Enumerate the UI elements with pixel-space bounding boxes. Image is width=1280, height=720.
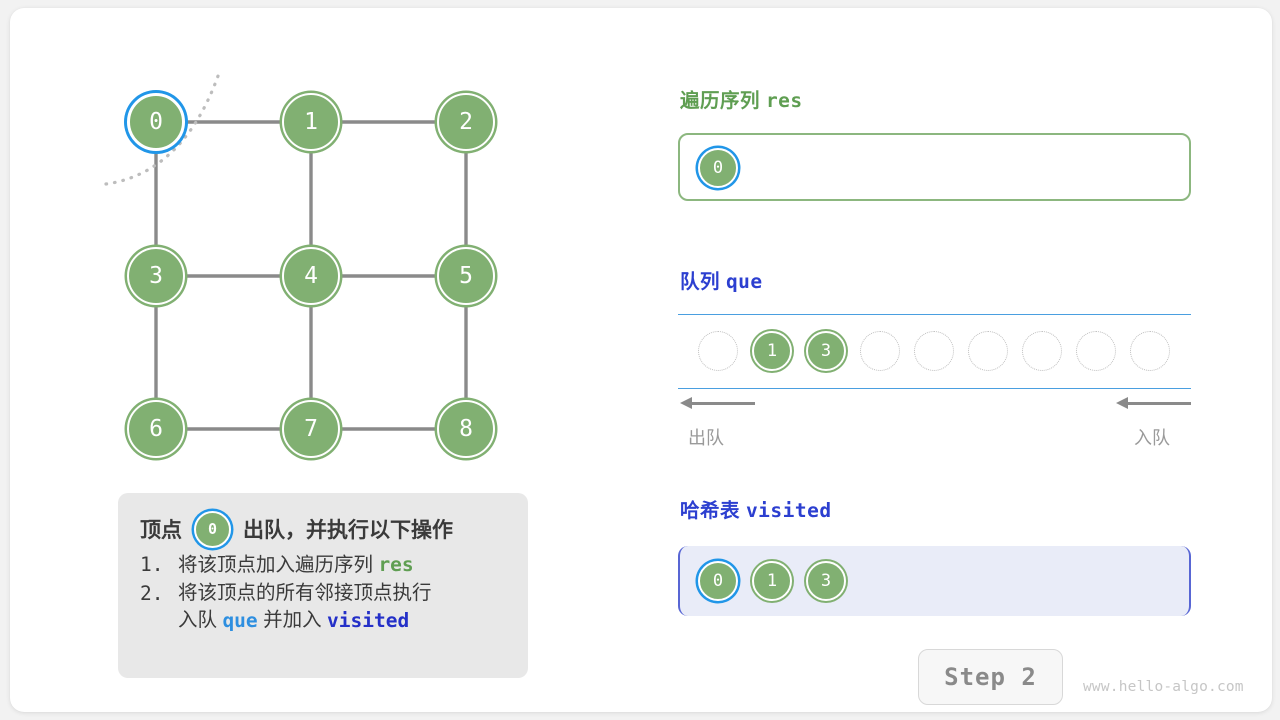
caption-step-2-cont: 入队 que 并加入 visited [140,607,510,635]
vertex-label: 1 [304,109,318,135]
queue-slot-0[interactable] [698,331,738,371]
graph-vertex-3[interactable]: 3 [127,247,185,305]
caption-step-2: 2. 将该顶点的所有邻接顶点执行 [140,580,510,608]
res-container: 0 [678,133,1191,201]
queue-slot-4[interactable] [914,331,954,371]
visited-item-label: 1 [767,571,777,591]
step-badge-label: Step 2 [944,663,1037,691]
enqueue-arrow-icon [1116,396,1191,410]
graph-vertex-6[interactable]: 6 [127,400,185,458]
visited-section-title: 哈希表 visited [680,494,832,523]
vertex-label: 5 [459,263,473,289]
caption-step-2-num: 2. [140,580,178,608]
caption-line3-prefix: 入队 [178,607,217,635]
caption-heading: 顶点 0 出队，并执行以下操作 [140,507,510,551]
graph-panel: 0 1 2 3 4 5 6 7 8 [10,8,610,488]
caption-head-suffix: 出队，并执行以下操作 [243,514,453,544]
caption-step-2-text: 将该顶点的所有邻接顶点执行 [178,580,510,608]
watermark: www.hello-algo.com [1083,679,1244,695]
visited-title-cn: 哈希表 [680,500,740,522]
res-title-cn: 遍历序列 [680,90,760,112]
res-section-title: 遍历序列 res [680,84,803,113]
caption-line3-middle: 并加入 [263,607,322,635]
vertex-label: 2 [459,109,473,135]
queue-slot-5[interactable] [968,331,1008,371]
graph-vertex-8[interactable]: 8 [437,400,495,458]
visited-item-2[interactable]: 3 [806,561,846,601]
queue-container: 1 3 [678,314,1191,390]
queue-slot-label: 3 [821,341,831,361]
caption-step-1-num: 1. [140,551,178,580]
queue-slot-6[interactable] [1022,331,1062,371]
graph-vertex-0[interactable]: 0 [127,93,185,151]
caption-step-1-body: 将该顶点加入遍历序列 [178,554,373,576]
visited-title-var: visited [746,499,832,522]
caption-kw-visited: visited [327,607,409,635]
caption-kw-que: que [222,607,257,635]
caption-box: 顶点 0 出队，并执行以下操作 1. 将该顶点加入遍历序列 res 2. 将该顶… [118,493,528,678]
visited-container: 0 1 3 [678,546,1191,616]
queue-slot-8[interactable] [1130,331,1170,371]
vertex-label: 4 [304,263,318,289]
queue-slot-1[interactable]: 1 [752,331,792,371]
caption-kw-res: res [378,553,413,576]
visited-item-0[interactable]: 0 [698,561,738,601]
dequeue-label: 出队 [688,424,724,450]
que-section-title: 队列 que [680,265,763,294]
caption-head-prefix: 顶点 [140,514,182,544]
visited-item-1[interactable]: 1 [752,561,792,601]
caption-vertex-label: 0 [208,520,217,538]
graph-vertex-1[interactable]: 1 [282,93,340,151]
visited-item-label: 3 [821,571,831,591]
queue-slot-label: 1 [767,341,777,361]
graph-vertex-2[interactable]: 2 [437,93,495,151]
vertex-label: 8 [459,416,473,442]
vertex-label: 0 [149,109,163,135]
res-title-var: res [766,89,803,112]
caption-step-1-text: 将该顶点加入遍历序列 res [178,551,510,580]
caption-vertex-node: 0 [194,511,231,548]
res-item-0[interactable]: 0 [698,148,738,188]
que-title-var: que [726,270,763,293]
vertex-label: 6 [149,416,163,442]
graph-vertex-5[interactable]: 5 [437,247,495,305]
que-title-cn: 队列 [680,271,720,293]
dequeue-arrow-icon [680,396,755,410]
queue-slot-3[interactable] [860,331,900,371]
caption-step-1: 1. 将该顶点加入遍历序列 res [140,551,510,580]
res-item-label: 0 [713,158,723,178]
graph-vertex-4[interactable]: 4 [282,247,340,305]
visited-item-label: 0 [713,571,723,591]
graph-vertex-7[interactable]: 7 [282,400,340,458]
queue-slot-7[interactable] [1076,331,1116,371]
enqueue-label: 入队 [1134,424,1170,450]
illustration-card: 0 1 2 3 4 5 6 7 8 遍历序列 res 0 [10,8,1272,712]
vertex-label: 7 [304,416,318,442]
queue-slot-2[interactable]: 3 [806,331,846,371]
vertex-label: 3 [149,263,163,289]
step-badge: Step 2 [918,649,1063,705]
